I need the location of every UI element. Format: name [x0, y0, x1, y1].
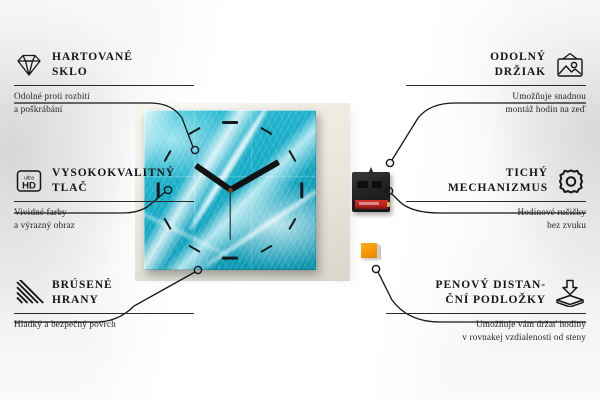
divider	[406, 85, 586, 86]
feature-foam-spacers: PENOVÝ DISTAN- ČNÍ PODLOŽKY Umožňuje vám…	[386, 278, 586, 344]
feature-polished-edges: BRÚSENÉ HRANY Hladký a bezpečný povrch	[14, 278, 194, 331]
divider	[14, 313, 194, 314]
feature-heading: TICHÝ MECHANIZMUS	[406, 166, 586, 196]
gear-icon	[556, 168, 586, 195]
battery-label	[359, 202, 379, 205]
desc-line: v rovnakej vzdialenosti od steny	[386, 331, 586, 344]
feature-heading: ODOLNÝ DRŽIAK	[406, 50, 586, 80]
svg-text:HD: HD	[22, 181, 36, 192]
title-line: VYSOKOKVALITNÝ	[52, 166, 175, 181]
desc-line: Odolné proti rozbití	[14, 90, 194, 103]
title-line: PENOVÝ DISTAN-	[436, 278, 546, 293]
title-line: BRÚSENÉ	[52, 278, 113, 293]
diamond-icon	[14, 52, 44, 78]
mechanism-detail	[372, 181, 382, 188]
feature-title: HARTOVANÉ SKLO	[52, 50, 133, 80]
battery-terminal	[387, 202, 390, 207]
hour-marker	[222, 121, 238, 124]
desc-line: bez zvuku	[406, 219, 586, 232]
divider	[14, 201, 194, 202]
clock-mechanism	[352, 172, 390, 212]
title-line: MECHANIZMUS	[448, 181, 548, 196]
title-line: HARTOVANÉ	[52, 50, 133, 65]
desc-line: Hladký a bezpečný povrch	[14, 318, 194, 331]
feature-description: Hodinové ručičky bez zvuku	[406, 206, 586, 232]
foam-pad-side	[377, 244, 381, 260]
desc-line: montáž hodin na zeď	[406, 103, 586, 116]
title-line: HRANY	[52, 293, 113, 308]
battery	[355, 200, 388, 209]
divider	[386, 313, 586, 314]
feature-description: Umožňuje vám držať hodiny v rovnakej vzd…	[386, 318, 586, 344]
foam-spacer-pad	[361, 243, 377, 258]
hour-marker	[301, 182, 304, 198]
title-line: TICHÝ	[448, 166, 548, 181]
feature-durable-hanger: ODOLNÝ DRŽIAK Umožňuje snadnou montáž ho…	[406, 50, 586, 116]
feature-heading: HARTOVANÉ SKLO	[14, 50, 194, 80]
feature-description: Vividné farby a výrazný obraz	[14, 206, 194, 232]
feature-high-quality-print: ultra HD VYSOKOKVALITNÝ TLAČ Vividné far…	[14, 166, 194, 232]
feature-description: Hladký a bezpečný povrch	[14, 318, 194, 331]
feature-silent-mechanism: TICHÝ MECHANIZMUS Hodinové ručičky bez z…	[406, 166, 586, 232]
desc-line: Umožňuje snadnou	[406, 90, 586, 103]
desc-line: a poškrábání	[14, 103, 194, 116]
feature-title: TICHÝ MECHANIZMUS	[448, 166, 548, 196]
title-line: DRŽIAK	[490, 65, 546, 80]
feature-title: PENOVÝ DISTAN- ČNÍ PODLOŽKY	[436, 278, 546, 308]
desc-line: Hodinové ručičky	[406, 206, 586, 219]
feature-title: VYSOKOKVALITNÝ TLAČ	[52, 166, 175, 196]
title-line: SKLO	[52, 65, 133, 80]
title-line: TLAČ	[52, 181, 175, 196]
feature-title: ODOLNÝ DRŽIAK	[490, 50, 546, 80]
feature-description: Umožňuje snadnou montáž hodin na zeď	[406, 90, 586, 116]
feature-title: BRÚSENÉ HRANY	[52, 278, 113, 308]
desc-line: a výrazný obraz	[14, 219, 194, 232]
divider	[14, 85, 194, 86]
feature-description: Odolné proti rozbití a poškrábání	[14, 90, 194, 116]
feature-tempered-glass: HARTOVANÉ SKLO Odolné proti rozbití a po…	[14, 50, 194, 116]
hanging-picture-icon	[554, 52, 586, 79]
feature-heading: PENOVÝ DISTAN- ČNÍ PODLOŽKY	[386, 278, 586, 308]
hatched-triangle-icon	[14, 280, 44, 306]
title-line: ODOLNÝ	[490, 50, 546, 65]
title-line: ČNÍ PODLOŽKY	[436, 293, 546, 308]
infographic-canvas: HARTOVANÉ SKLO Odolné proti rozbití a po…	[0, 0, 600, 400]
feature-heading: ultra HD VYSOKOKVALITNÝ TLAČ	[14, 166, 194, 196]
desc-line: Umožňuje vám držať hodiny	[386, 318, 586, 331]
mechanism-detail	[357, 181, 368, 188]
divider	[406, 201, 586, 202]
clock-hub	[228, 188, 233, 193]
feature-heading: BRÚSENÉ HRANY	[14, 278, 194, 308]
press-layers-icon	[554, 279, 586, 307]
ultra-hd-icon: ultra HD	[14, 168, 44, 194]
second-hand	[229, 190, 230, 240]
desc-line: Vividné farby	[14, 206, 194, 219]
hour-marker	[222, 257, 238, 260]
